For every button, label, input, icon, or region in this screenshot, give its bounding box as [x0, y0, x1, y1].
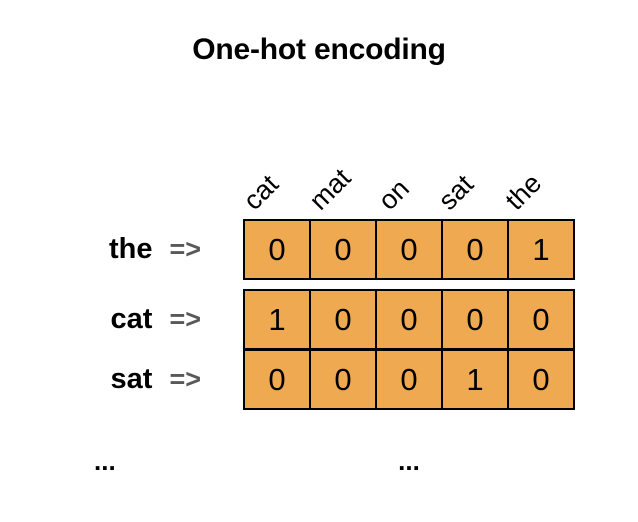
row-arrow-cat: =>	[169, 306, 201, 333]
cell-the-sat: 0	[443, 221, 509, 278]
cell-cat-cat: 1	[245, 291, 311, 348]
cell-cat-mat: 0	[311, 291, 377, 348]
column-header-cat: cat	[239, 170, 284, 215]
row-label-cat: cat =>	[0, 289, 243, 350]
matrix-continuation-ellipsis: ...	[243, 448, 575, 474]
cell-sat-the: 0	[509, 351, 573, 408]
row-word-the: the	[109, 235, 153, 264]
table-row: 0 0 0 0 1	[243, 219, 575, 280]
rows-continuation-ellipsis: ...	[94, 448, 116, 474]
table-row: 0 0 0 1 0	[243, 349, 575, 410]
table-row: 1 0 0 0 0	[243, 289, 575, 350]
row-word-cat: cat	[111, 305, 153, 334]
one-hot-encoding-figure: One-hot encoding cat mat on sat the the …	[0, 0, 638, 522]
column-header-on: on	[374, 175, 414, 215]
row-label-the: the =>	[0, 219, 243, 280]
cell-the-the: 1	[509, 221, 573, 278]
row-arrow-the: =>	[169, 236, 201, 263]
cell-sat-mat: 0	[311, 351, 377, 408]
cell-sat-on: 0	[377, 351, 443, 408]
column-header-mat: mat	[305, 164, 356, 215]
column-header-sat: sat	[434, 170, 479, 215]
cell-cat-on: 0	[377, 291, 443, 348]
page-title: One-hot encoding	[0, 33, 638, 67]
cell-cat-sat: 0	[443, 291, 509, 348]
row-arrow-sat: =>	[169, 366, 201, 393]
column-header-the: the	[501, 169, 547, 215]
cell-the-cat: 0	[245, 221, 311, 278]
cell-sat-cat: 0	[245, 351, 311, 408]
cell-the-mat: 0	[311, 221, 377, 278]
row-word-sat: sat	[111, 365, 153, 394]
row-label-sat: sat =>	[0, 349, 243, 410]
cell-cat-the: 0	[509, 291, 573, 348]
cell-sat-sat: 1	[443, 351, 509, 408]
cell-the-on: 0	[377, 221, 443, 278]
